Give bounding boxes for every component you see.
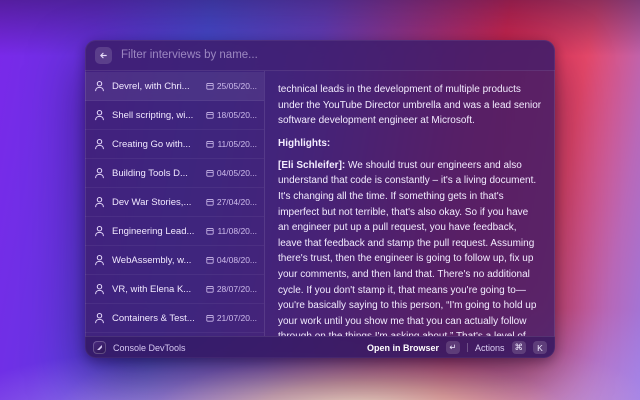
list-item-title: Dev War Stories,... <box>112 197 199 208</box>
list-item-date-text: 04/08/20... <box>217 255 257 265</box>
list-item-title: WebAssembly, w... <box>112 255 199 266</box>
highlights-heading: Highlights: <box>278 138 542 149</box>
list-item-date-text: 04/05/20... <box>217 168 257 178</box>
person-icon <box>94 138 105 150</box>
list-item-date-text: 27/04/20... <box>217 197 257 207</box>
window-body: Devrel, with Chri...25/05/20...Shell scr… <box>85 71 555 336</box>
list-item-title: Shell scripting, wi... <box>112 110 199 121</box>
open-in-browser-action[interactable]: Open in Browser <box>367 343 439 353</box>
list-item-date: 25/05/20... <box>206 81 257 91</box>
list-item-date-text: 25/05/20... <box>217 81 257 91</box>
detail-pane[interactable]: technical leads in the development of mu… <box>265 71 555 336</box>
list-item[interactable]: Containers & Test...21/07/20... <box>85 304 264 333</box>
list-item-date-text: 11/05/20... <box>217 139 257 149</box>
person-icon <box>94 312 105 324</box>
detail-quote: [Eli Schleifer]: We should trust our eng… <box>278 158 542 336</box>
list-item-date: 18/05/20... <box>206 110 257 120</box>
desktop-wallpaper: Devrel, with Chri...25/05/20...Shell scr… <box>0 0 640 400</box>
list-item-title: VR, with Elena K... <box>112 284 199 295</box>
person-icon <box>94 196 105 208</box>
list-item[interactable]: Dev War Stories,...27/04/20... <box>85 188 264 217</box>
list-item-date-text: 18/05/20... <box>217 110 257 120</box>
list-item-date: 04/08/20... <box>206 255 257 265</box>
list-item-date-text: 11/08/20... <box>217 226 257 236</box>
quote-speaker: [Eli Schleifer]: <box>278 160 345 171</box>
person-icon <box>94 80 105 92</box>
arrow-left-icon[interactable] <box>95 47 112 64</box>
k-key-badge[interactable]: K <box>533 341 547 354</box>
calendar-icon <box>206 256 214 264</box>
app-name-label: Console DevTools <box>113 343 360 353</box>
quote-text: We should trust our engineers and also u… <box>278 160 536 336</box>
person-icon <box>94 225 105 237</box>
command-key-badge[interactable]: ⌘ <box>512 341 527 354</box>
list-item[interactable]: Engineering Lead...11/08/20... <box>85 217 264 246</box>
app-logo-icon <box>93 341 106 354</box>
calendar-icon <box>206 169 214 177</box>
interview-list[interactable]: Devrel, with Chri...25/05/20...Shell scr… <box>85 71 265 336</box>
list-item-date: 21/07/20... <box>206 313 257 323</box>
launcher-window: Devrel, with Chri...25/05/20...Shell scr… <box>85 40 555 358</box>
calendar-icon <box>206 111 214 119</box>
list-item-title: Building Tools D... <box>112 168 199 179</box>
calendar-icon <box>206 82 214 90</box>
list-item-date: 11/05/20... <box>206 139 257 149</box>
list-item-title: Devrel, with Chri... <box>112 81 199 92</box>
calendar-icon <box>206 285 214 293</box>
status-bar: Console DevTools Open in Browser ↵ Actio… <box>85 336 555 358</box>
person-icon <box>94 254 105 266</box>
search-bar <box>85 40 555 71</box>
list-item-date-text: 21/07/20... <box>217 313 257 323</box>
person-icon <box>94 283 105 295</box>
list-item[interactable]: Shell scripting, wi...18/05/20... <box>85 101 264 130</box>
calendar-icon <box>206 314 214 322</box>
calendar-icon <box>206 198 214 206</box>
list-item[interactable]: WebAssembly, w...04/08/20... <box>85 246 264 275</box>
list-item-date: 27/04/20... <box>206 197 257 207</box>
list-item[interactable]: Creating Go with...11/05/20... <box>85 130 264 159</box>
list-item-title: Containers & Test... <box>112 313 199 324</box>
list-item-title: Creating Go with... <box>112 139 199 150</box>
person-icon <box>94 167 105 179</box>
list-item-date: 04/05/20... <box>206 168 257 178</box>
enter-key-badge[interactable]: ↵ <box>446 341 460 354</box>
list-item-title: Engineering Lead... <box>112 226 199 237</box>
list-item[interactable]: Devrel, with Chri...25/05/20... <box>85 72 264 101</box>
actions-button[interactable]: Actions <box>475 343 505 353</box>
calendar-icon <box>206 227 214 235</box>
person-icon <box>94 109 105 121</box>
list-item[interactable]: VR, with Elena K...28/07/20... <box>85 275 264 304</box>
detail-intro: technical leads in the development of mu… <box>278 82 542 129</box>
search-input[interactable] <box>121 49 545 61</box>
calendar-icon <box>206 140 214 148</box>
footer-divider <box>467 343 468 352</box>
list-item-date-text: 28/07/20... <box>217 284 257 294</box>
list-item[interactable]: Building Tools D...04/05/20... <box>85 159 264 188</box>
list-item-date: 11/08/20... <box>206 226 257 236</box>
list-item-date: 28/07/20... <box>206 284 257 294</box>
